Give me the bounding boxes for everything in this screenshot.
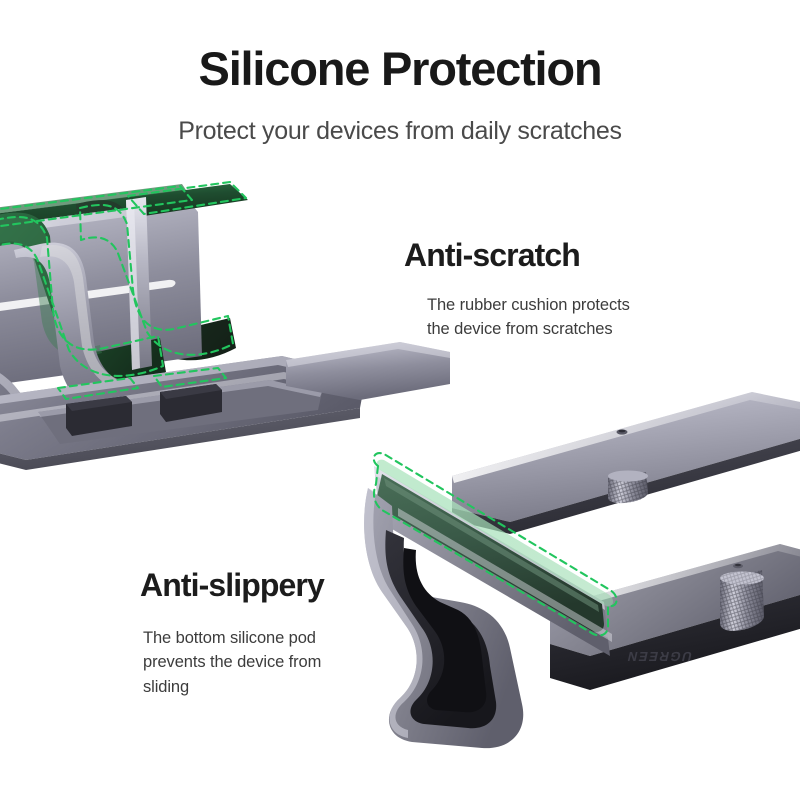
feature-block-anti-scratch: Anti-scratch The rubber cushion protects… (404, 238, 630, 342)
page-subtitle: Protect your devices from daily scratche… (0, 116, 800, 146)
stand-far-rail (452, 392, 800, 534)
brand-label-bottom: UGREEN (625, 649, 694, 664)
feature-title-anti-scratch: Anti-scratch (404, 238, 630, 273)
feature-block-anti-slippery: Anti-slippery The bottom silicone pod pr… (140, 568, 324, 699)
marketing-image-canvas: REEN (0, 0, 800, 800)
feature-body-line: sliding (143, 675, 324, 699)
screw-hole-far (617, 429, 628, 434)
page-title: Silicone Protection (0, 44, 800, 93)
feature-body-anti-slippery: The bottom silicone pod prevents the dev… (143, 626, 324, 699)
feature-body-anti-scratch: The rubber cushion protects the device f… (427, 293, 630, 342)
feature-body-line: The rubber cushion protects (427, 293, 630, 317)
screw-hole-near (733, 564, 743, 569)
feature-title-anti-slippery: Anti-slippery (140, 568, 324, 603)
thumbscrew-lower[interactable] (720, 570, 764, 631)
thumbscrew-upper[interactable] (608, 471, 648, 504)
feature-body-line: prevents the device from (143, 650, 324, 674)
product-image-bottom-right: UGREEN (360, 380, 800, 800)
feature-body-line: The bottom silicone pod (143, 626, 324, 650)
feature-body-line: the device from scratches (427, 317, 630, 341)
